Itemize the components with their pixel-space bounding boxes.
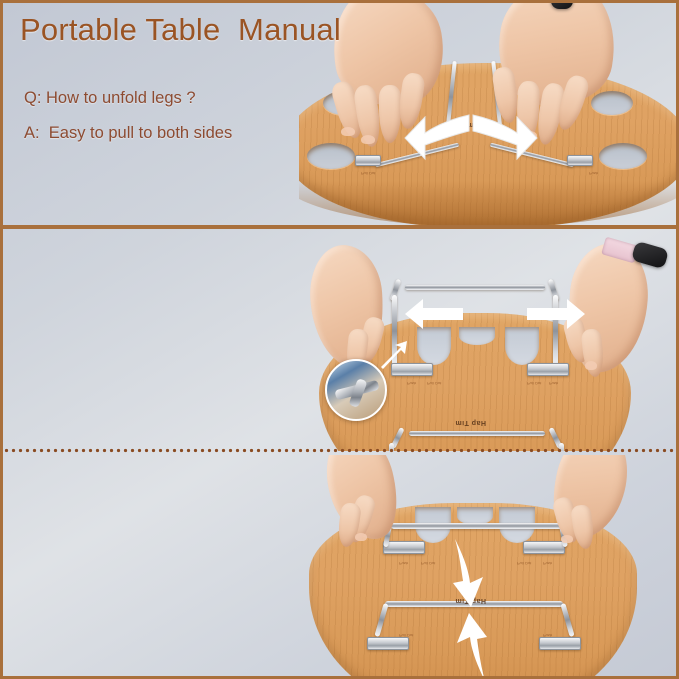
panel-divider-solid [3,225,676,229]
arrow-right-icon [469,109,539,163]
hardware-decal: Pull Out [361,171,375,176]
hardware-decal: Push [543,633,552,638]
leg-frame-top [405,285,545,290]
glass-slot [505,327,539,365]
photo-fold-legs: Hap Tim Push Pull Out Pull Out Push [299,231,676,451]
photo-unfold-legs: Hap Tim Pull Out Push Push Pull Out [299,3,676,226]
callout-pointer-arrow-icon [379,341,409,369]
leg-bracket [367,637,409,650]
fingernail [585,361,597,370]
fingernail [561,535,573,543]
hardware-decal: Push [407,381,416,386]
page-title: Portable Table Manual [20,12,341,48]
fingernail [341,127,355,136]
hardware-decal: Push [543,561,552,566]
leg-bracket [539,637,581,650]
cup-hole [591,91,633,115]
panel1-question: Q: How to unfold legs ? [24,89,196,108]
hardware-decal: Pull Out [421,561,435,566]
arrow-left-icon [403,109,473,163]
fingernail [355,533,367,541]
hardware-decal: Push [399,561,408,566]
hardware-decal: Pull Out [527,381,541,386]
leg-bracket [567,155,593,166]
leg-bracket [355,155,381,166]
leg-frame-bottom [409,431,545,436]
arrow-up-icon [449,613,491,676]
arrow-left-icon [403,297,465,331]
manual-page: Portable Table Manual Hap Tim Pull O [0,0,679,679]
leg-bracket [523,541,565,554]
hardware-decal: Push [549,381,558,386]
hardware-decal: Pull Out [517,561,531,566]
panel-lay-down-legs: Hap Tim Push Pull Out Pull Out Push Pull… [3,455,676,676]
leg-bracket [383,541,425,554]
hardware-decal: Push [589,171,598,176]
hardware-decal: Pull Out [399,633,413,638]
hardware-decal: Pull Out [427,381,441,386]
arrow-right-icon [525,297,587,331]
fingernail [361,135,375,144]
cup-hole [307,143,355,169]
panel-fold-legs: Hap Tim Push Pull Out Pull Out Push [3,231,676,451]
table-edge-shadow [299,181,676,226]
panel-divider-dotted [3,448,676,453]
arrow-down-icon [449,537,491,609]
leg-bracket [527,363,569,376]
leg-frame-upper [391,523,563,529]
panel1-answer-line: A: Easy to pull to both sides [24,124,232,143]
cup-hole [599,143,647,169]
brand-decal: Hap Tim [455,419,486,426]
glass-slot [417,327,451,365]
hinge-closeup-callout [325,359,387,421]
photo-lay-down-legs: Hap Tim Push Pull Out Pull Out Push Pull… [299,455,676,676]
